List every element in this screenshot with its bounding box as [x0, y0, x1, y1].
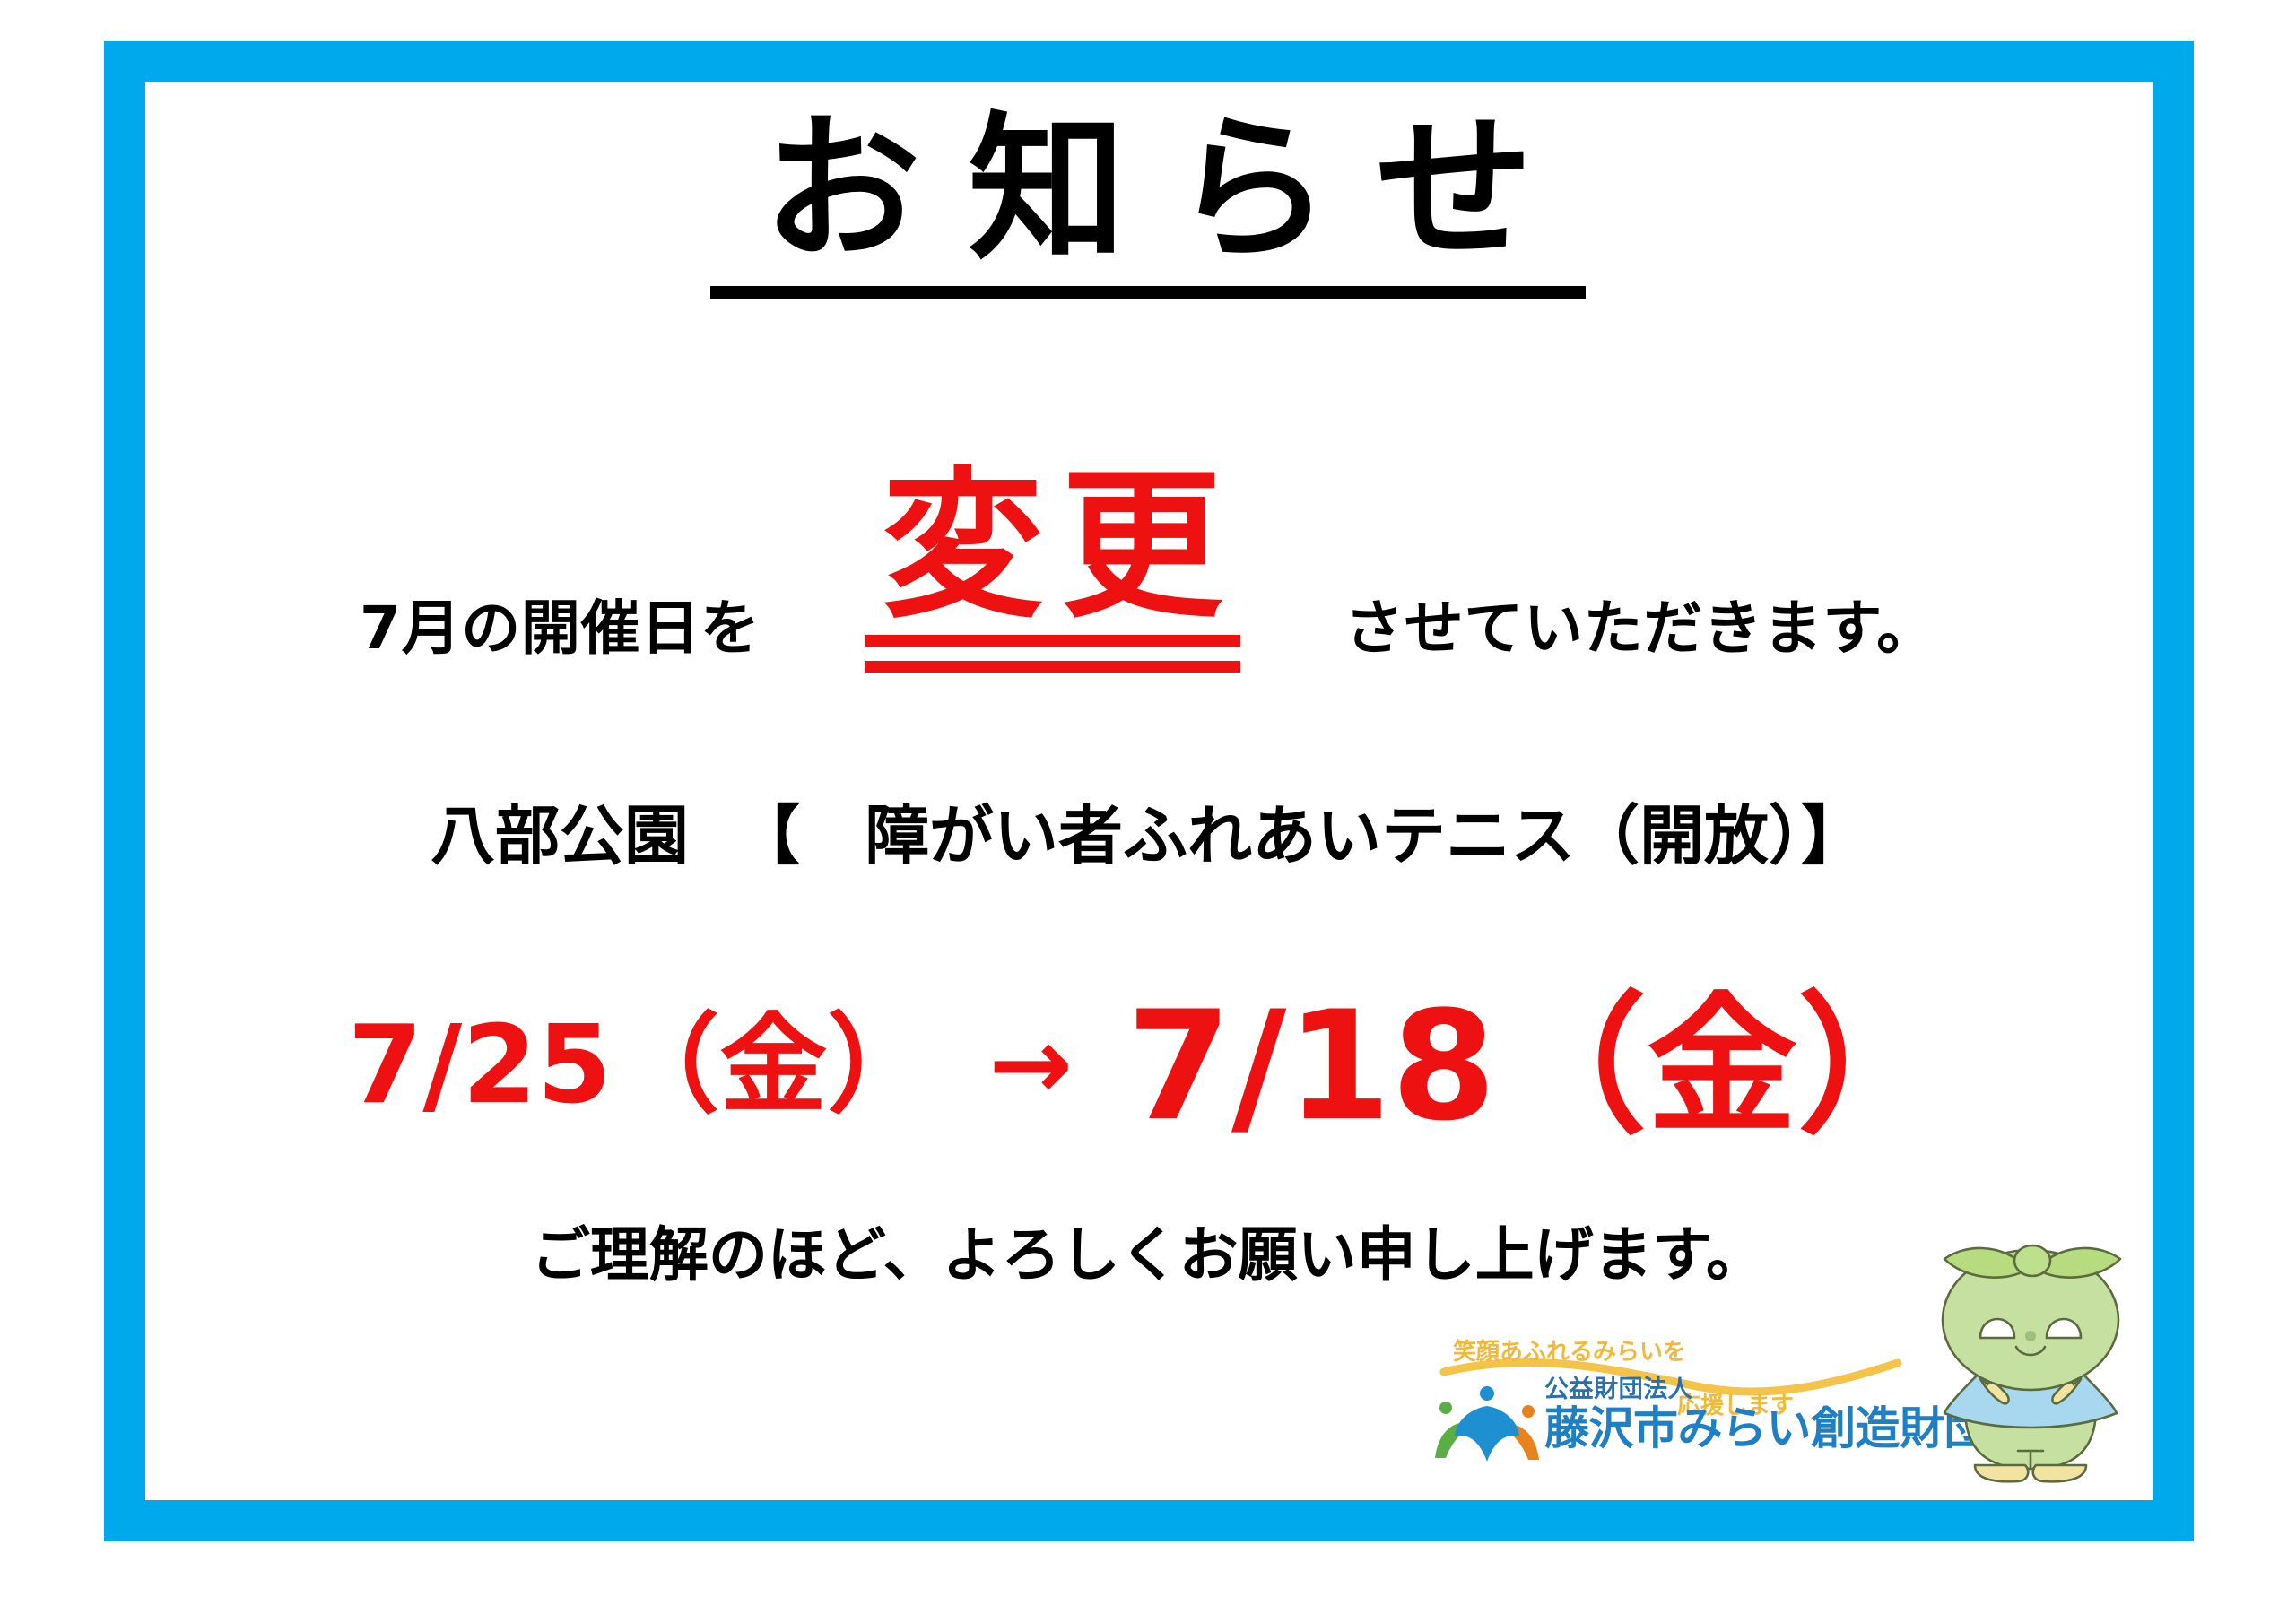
foundation-logo: 笑顔あふれるみらいを 応援します 公益財団法人 藤沢市みらい創造財団: [1428, 1331, 1912, 1465]
logo-figure-orange-head: [1522, 1405, 1535, 1418]
logo-figure-blue-body: [1455, 1406, 1519, 1462]
mascot-character-icon: [1909, 1230, 2152, 1490]
mascot-leaf-center-bud: [2014, 1245, 2050, 1276]
change-prefix-text: 7月の開催日を: [360, 599, 761, 673]
change-emphasis-text: 変更: [865, 466, 1240, 635]
logo-tagline-part1-text: 笑顔あふれるみらいを: [1453, 1338, 1686, 1366]
notice-poster: お知らせ 7月の開催日を 変更 させていただきます。 八部公園【 障がい者ふれあ…: [0, 0, 2296, 1623]
mascot-foot-left: [1975, 1465, 2028, 1481]
venue-program-line: 八部公園【 障がい者ふれあいテニス（開放）】: [0, 801, 2296, 872]
change-emphasis-underline-lower: [865, 661, 1240, 673]
logo-text-group: 公益財団法人 藤沢市みらい創造財団: [1544, 1377, 1912, 1451]
change-emphasis-group: 変更: [865, 466, 1240, 673]
logo-org-name-text: 藤沢市みらい創造財団: [1544, 1406, 1912, 1451]
arrow-right-icon: →: [988, 1014, 1073, 1115]
old-date-text: 7/25（金）: [348, 1012, 935, 1120]
logo-org-kind-text: 公益財団法人: [1544, 1377, 1912, 1402]
mascot-foot-right: [2033, 1465, 2086, 1481]
page-title-text: お知らせ: [710, 108, 1586, 299]
change-suffix-text: させていただきます。: [1344, 599, 1936, 673]
logo-people-mark-icon: [1433, 1383, 1543, 1462]
page-title: お知らせ: [0, 108, 2296, 299]
logo-figure-green-head: [1439, 1402, 1452, 1414]
program-name-text: 【 障がい者ふれあいテニス（開放）】: [735, 798, 1865, 873]
new-date-text: 7/18（金）: [1126, 991, 1948, 1141]
venue-name-text: 八部公園: [430, 798, 689, 873]
date-change-row: 7/25（金） → 7/18（金）: [0, 991, 2296, 1141]
logo-figure-blue-head: [1480, 1386, 1494, 1401]
change-announcement-line: 7月の開催日を 変更 させていただきます。: [0, 466, 2296, 673]
mascot-nose: [2025, 1331, 2036, 1341]
